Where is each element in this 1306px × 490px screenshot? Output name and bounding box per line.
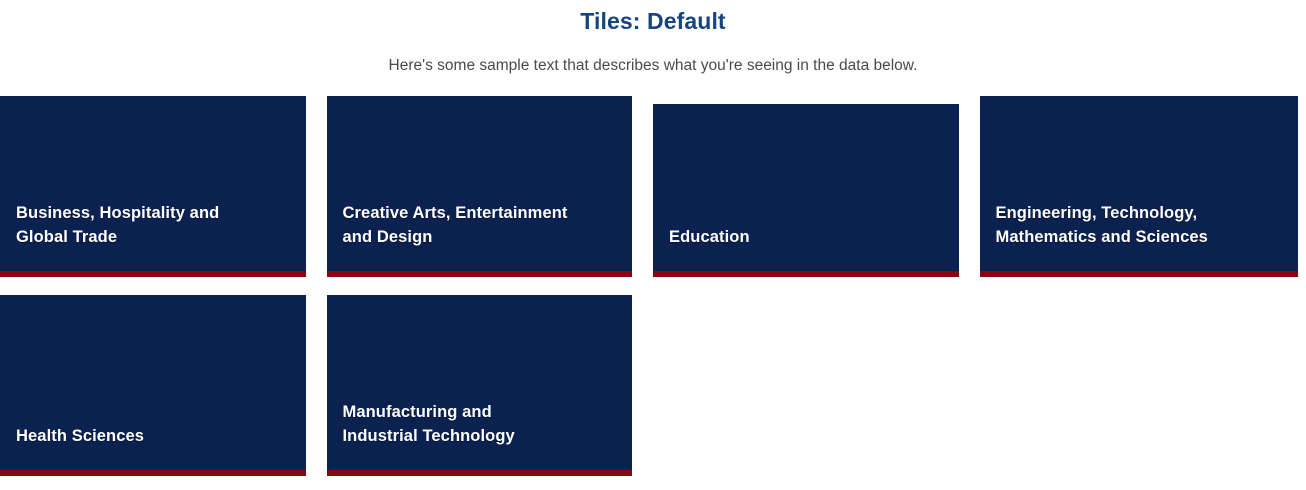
tile-cell: Creative Arts, Entertainment and Design bbox=[327, 96, 654, 277]
tile-cell: Engineering, Technology, Mathematics and… bbox=[980, 96, 1306, 277]
tile-cell: Business, Hospitality and Global Trade bbox=[0, 96, 327, 277]
tile-label: Engineering, Technology, Mathematics and… bbox=[980, 201, 1299, 271]
tile-label: Education bbox=[653, 225, 959, 271]
tile-manufacturing-and-industrial-technology[interactable]: Manufacturing and Industrial Technology bbox=[327, 295, 633, 476]
page-header: Tiles: Default Here's some sample text t… bbox=[0, 0, 1306, 76]
tile-grid: Business, Hospitality and Global Trade C… bbox=[0, 96, 1306, 476]
tile-health-sciences[interactable]: Health Sciences bbox=[0, 295, 306, 476]
tile-cell: Health Sciences bbox=[0, 277, 327, 476]
tile-creative-arts-entertainment-and-design[interactable]: Creative Arts, Entertainment and Design bbox=[327, 96, 633, 277]
tile-grid-empty-cell bbox=[653, 277, 980, 476]
tile-label: Health Sciences bbox=[0, 424, 306, 470]
tile-cell: Manufacturing and Industrial Technology bbox=[327, 277, 654, 476]
tiles-page: Tiles: Default Here's some sample text t… bbox=[0, 0, 1306, 490]
tile-label: Creative Arts, Entertainment and Design bbox=[327, 201, 633, 271]
tile-grid-empty-cell bbox=[980, 277, 1306, 476]
tile-label: Manufacturing and Industrial Technology bbox=[327, 400, 633, 470]
tile-cell: Education bbox=[653, 96, 980, 277]
page-subtitle: Here's some sample text that describes w… bbox=[0, 36, 1306, 76]
tile-education[interactable]: Education bbox=[653, 104, 959, 277]
tile-label: Business, Hospitality and Global Trade bbox=[0, 201, 306, 271]
page-title: Tiles: Default bbox=[0, 6, 1306, 36]
tile-business-hospitality-and-global-trade[interactable]: Business, Hospitality and Global Trade bbox=[0, 96, 306, 277]
tile-engineering-technology-mathematics-and-sciences[interactable]: Engineering, Technology, Mathematics and… bbox=[980, 96, 1299, 277]
